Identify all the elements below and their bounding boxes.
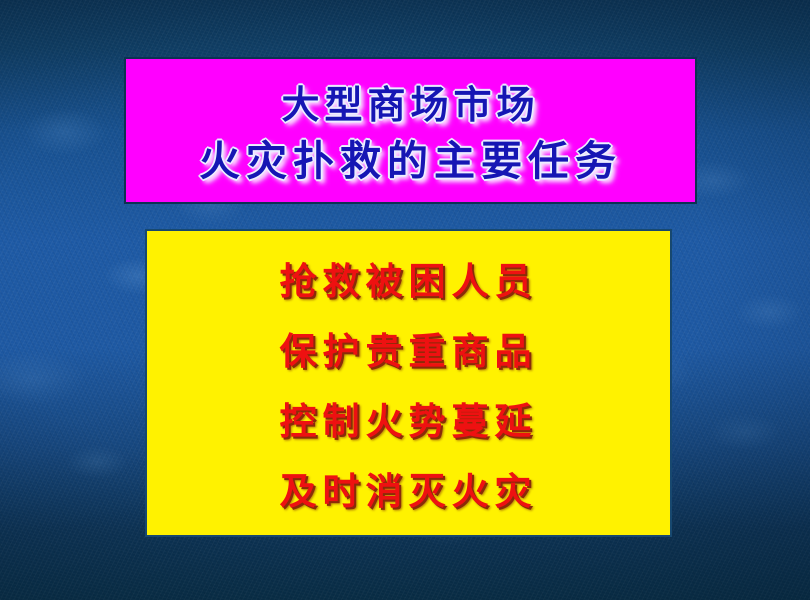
- content-line-1: 抢救被困人员: [280, 247, 538, 317]
- content-line-3: 控制火势蔓延: [280, 387, 538, 457]
- content-box: 抢救被困人员 保护贵重商品 控制火势蔓延 及时消灭火灾: [145, 229, 672, 537]
- title-line-2: 火灾扑救的主要任务: [199, 133, 622, 189]
- content-line-2: 保护贵重商品: [280, 317, 538, 387]
- presentation-slide: 大型商场市场 火灾扑救的主要任务 抢救被困人员 保护贵重商品 控制火势蔓延 及时…: [0, 0, 810, 600]
- content-line-4: 及时消灭火灾: [280, 457, 538, 527]
- title-line-1: 大型商场市场: [281, 77, 539, 133]
- title-box: 大型商场市场 火灾扑救的主要任务: [124, 57, 697, 204]
